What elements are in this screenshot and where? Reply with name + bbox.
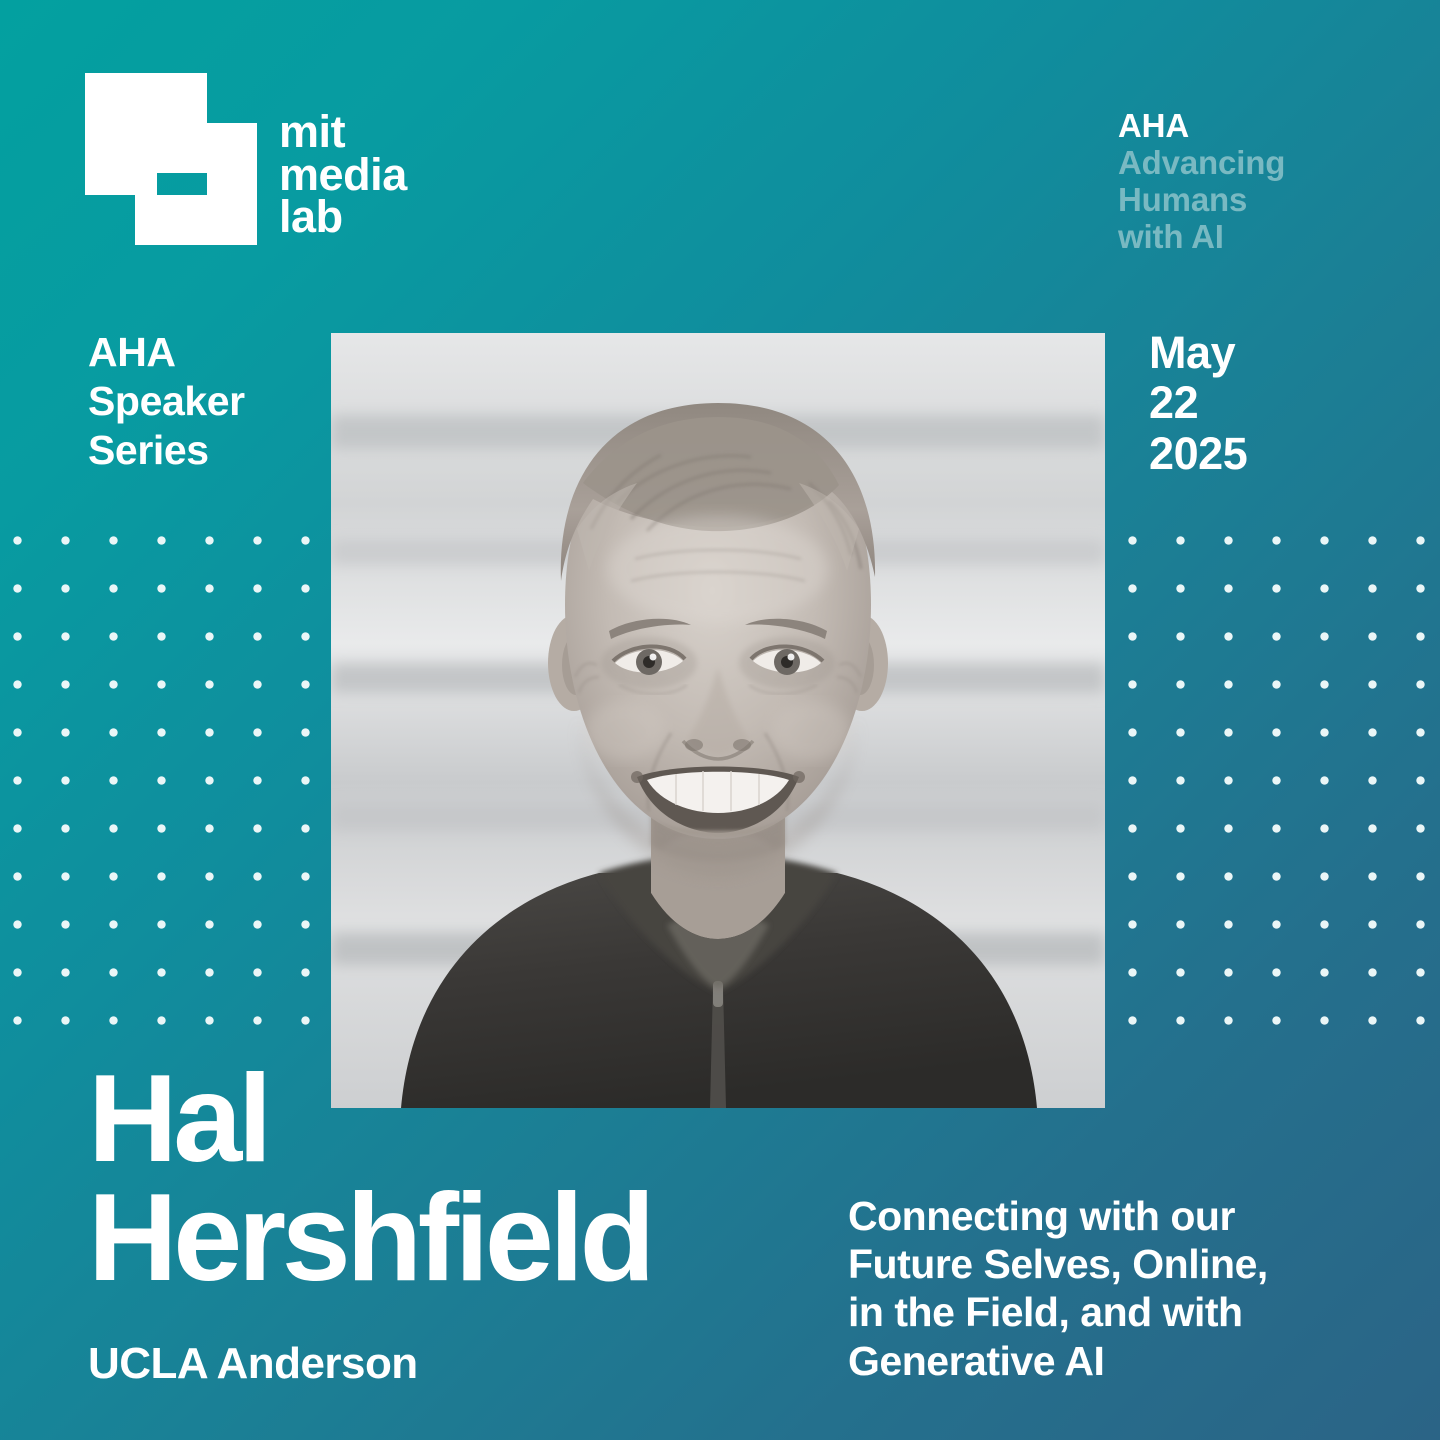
series-line-3: Series: [88, 426, 245, 475]
talk-title-line-4: Generative AI: [848, 1337, 1408, 1385]
wordmark-line-media: media: [279, 154, 407, 197]
event-date-day: 22: [1149, 378, 1247, 428]
speaker-info-block: Hal Hershfield UCLA Anderson: [88, 1060, 788, 1388]
mit-media-lab-pinwheel-icon: [85, 73, 257, 245]
mit-media-lab-wordmark: mit media lab: [279, 111, 407, 245]
aha-expansion-line-1: Advancing: [1118, 145, 1428, 182]
aha-acronym: AHA: [1118, 108, 1428, 145]
talk-title: Connecting with our Future Selves, Onlin…: [848, 1192, 1408, 1386]
dot-pattern-left: [13, 536, 325, 1030]
speaker-first-name: Hal: [88, 1060, 788, 1179]
aha-brand-block: AHA Advancing Humans with AI: [1118, 108, 1428, 256]
aha-expansion-line-3: with AI: [1118, 219, 1428, 256]
wordmark-line-lab: lab: [279, 196, 407, 239]
dot-pattern-right: [1128, 536, 1440, 1030]
talk-title-line-3: in the Field, and with: [848, 1288, 1408, 1336]
series-line-1: AHA: [88, 328, 245, 377]
series-line-2: Speaker: [88, 377, 245, 426]
speaker-affiliation: UCLA Anderson: [88, 1340, 788, 1388]
speaker-series-label: AHA Speaker Series: [88, 328, 245, 476]
speaker-portrait: [331, 333, 1105, 1108]
event-date-month: May: [1149, 328, 1247, 378]
aha-expansion-line-2: Humans: [1118, 182, 1428, 219]
mit-media-lab-logo: mit media lab: [85, 73, 407, 245]
event-poster: mit media lab AHA Advancing Humans with …: [0, 0, 1440, 1440]
speaker-portrait-image: [331, 333, 1105, 1108]
event-date: May 22 2025: [1149, 328, 1247, 479]
event-date-year: 2025: [1149, 429, 1247, 479]
talk-title-line-2: Future Selves, Online,: [848, 1240, 1408, 1288]
speaker-name: Hal Hershfield: [88, 1060, 788, 1298]
talk-title-line-1: Connecting with our: [848, 1192, 1408, 1240]
wordmark-line-mit: mit: [279, 111, 407, 154]
speaker-last-name: Hershfield: [88, 1179, 788, 1298]
